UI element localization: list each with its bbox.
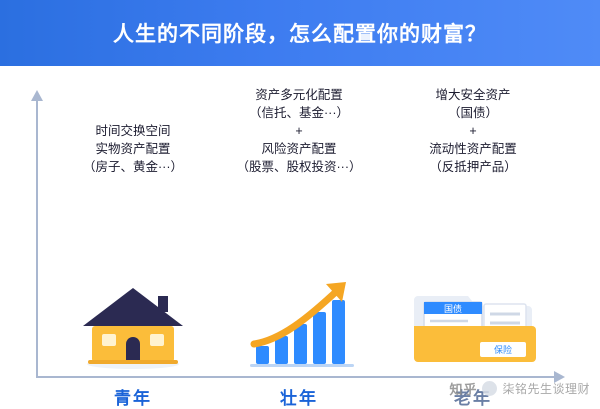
- avatar: [482, 381, 497, 396]
- vertical-axis-arrow-icon: [31, 90, 43, 101]
- vertical-axis: [36, 100, 38, 378]
- watermark-username: 柒铭先生谈理财: [502, 380, 590, 397]
- stage-midlife-label: 壮年: [214, 384, 384, 409]
- stage-midlife: 资产多元化配置 （信托、基金···） + 风险资产配置 （股票、股权投资···）: [214, 86, 384, 376]
- page-title: 人生的不同阶段，怎么配置你的财富？: [113, 18, 487, 48]
- watermark: 知乎 柒铭先生谈理财: [449, 379, 590, 398]
- stage-youth-text: 时间交换空间 实物资产配置 （房子、黄金···）: [48, 86, 218, 176]
- stage-old-age: 增大安全资产 （国债） + 流动性资产配置 （反抵押产品） 国债: [388, 86, 558, 376]
- header-banner: 人生的不同阶段，怎么配置你的财富？: [0, 0, 600, 66]
- stage-old-age-text: 增大安全资产 （国债） + 流动性资产配置 （反抵押产品）: [388, 86, 558, 176]
- growth-chart-icon: [214, 274, 384, 370]
- stage-youth: 时间交换空间 实物资产配置 （房子、黄金···）: [48, 86, 218, 376]
- horizontal-axis: [36, 376, 556, 378]
- folder-documents-icon: 国债 保险: [388, 274, 558, 370]
- diagram-body: 时间交换空间 实物资产配置 （房子、黄金···）: [0, 66, 600, 404]
- stage-midlife-text: 资产多元化配置 （信托、基金···） + 风险资产配置 （股票、股权投资···）: [214, 86, 384, 176]
- insurance-card-label: 保险: [494, 344, 512, 355]
- infographic-page: 人生的不同阶段，怎么配置你的财富？ 时间交换空间 实物资产配置 （房子、黄金··…: [0, 0, 600, 404]
- zhihu-logo: 知乎: [449, 379, 477, 398]
- bond-card-label: 国债: [444, 303, 462, 314]
- house-icon: [48, 274, 218, 370]
- stage-youth-label: 青年: [48, 384, 218, 409]
